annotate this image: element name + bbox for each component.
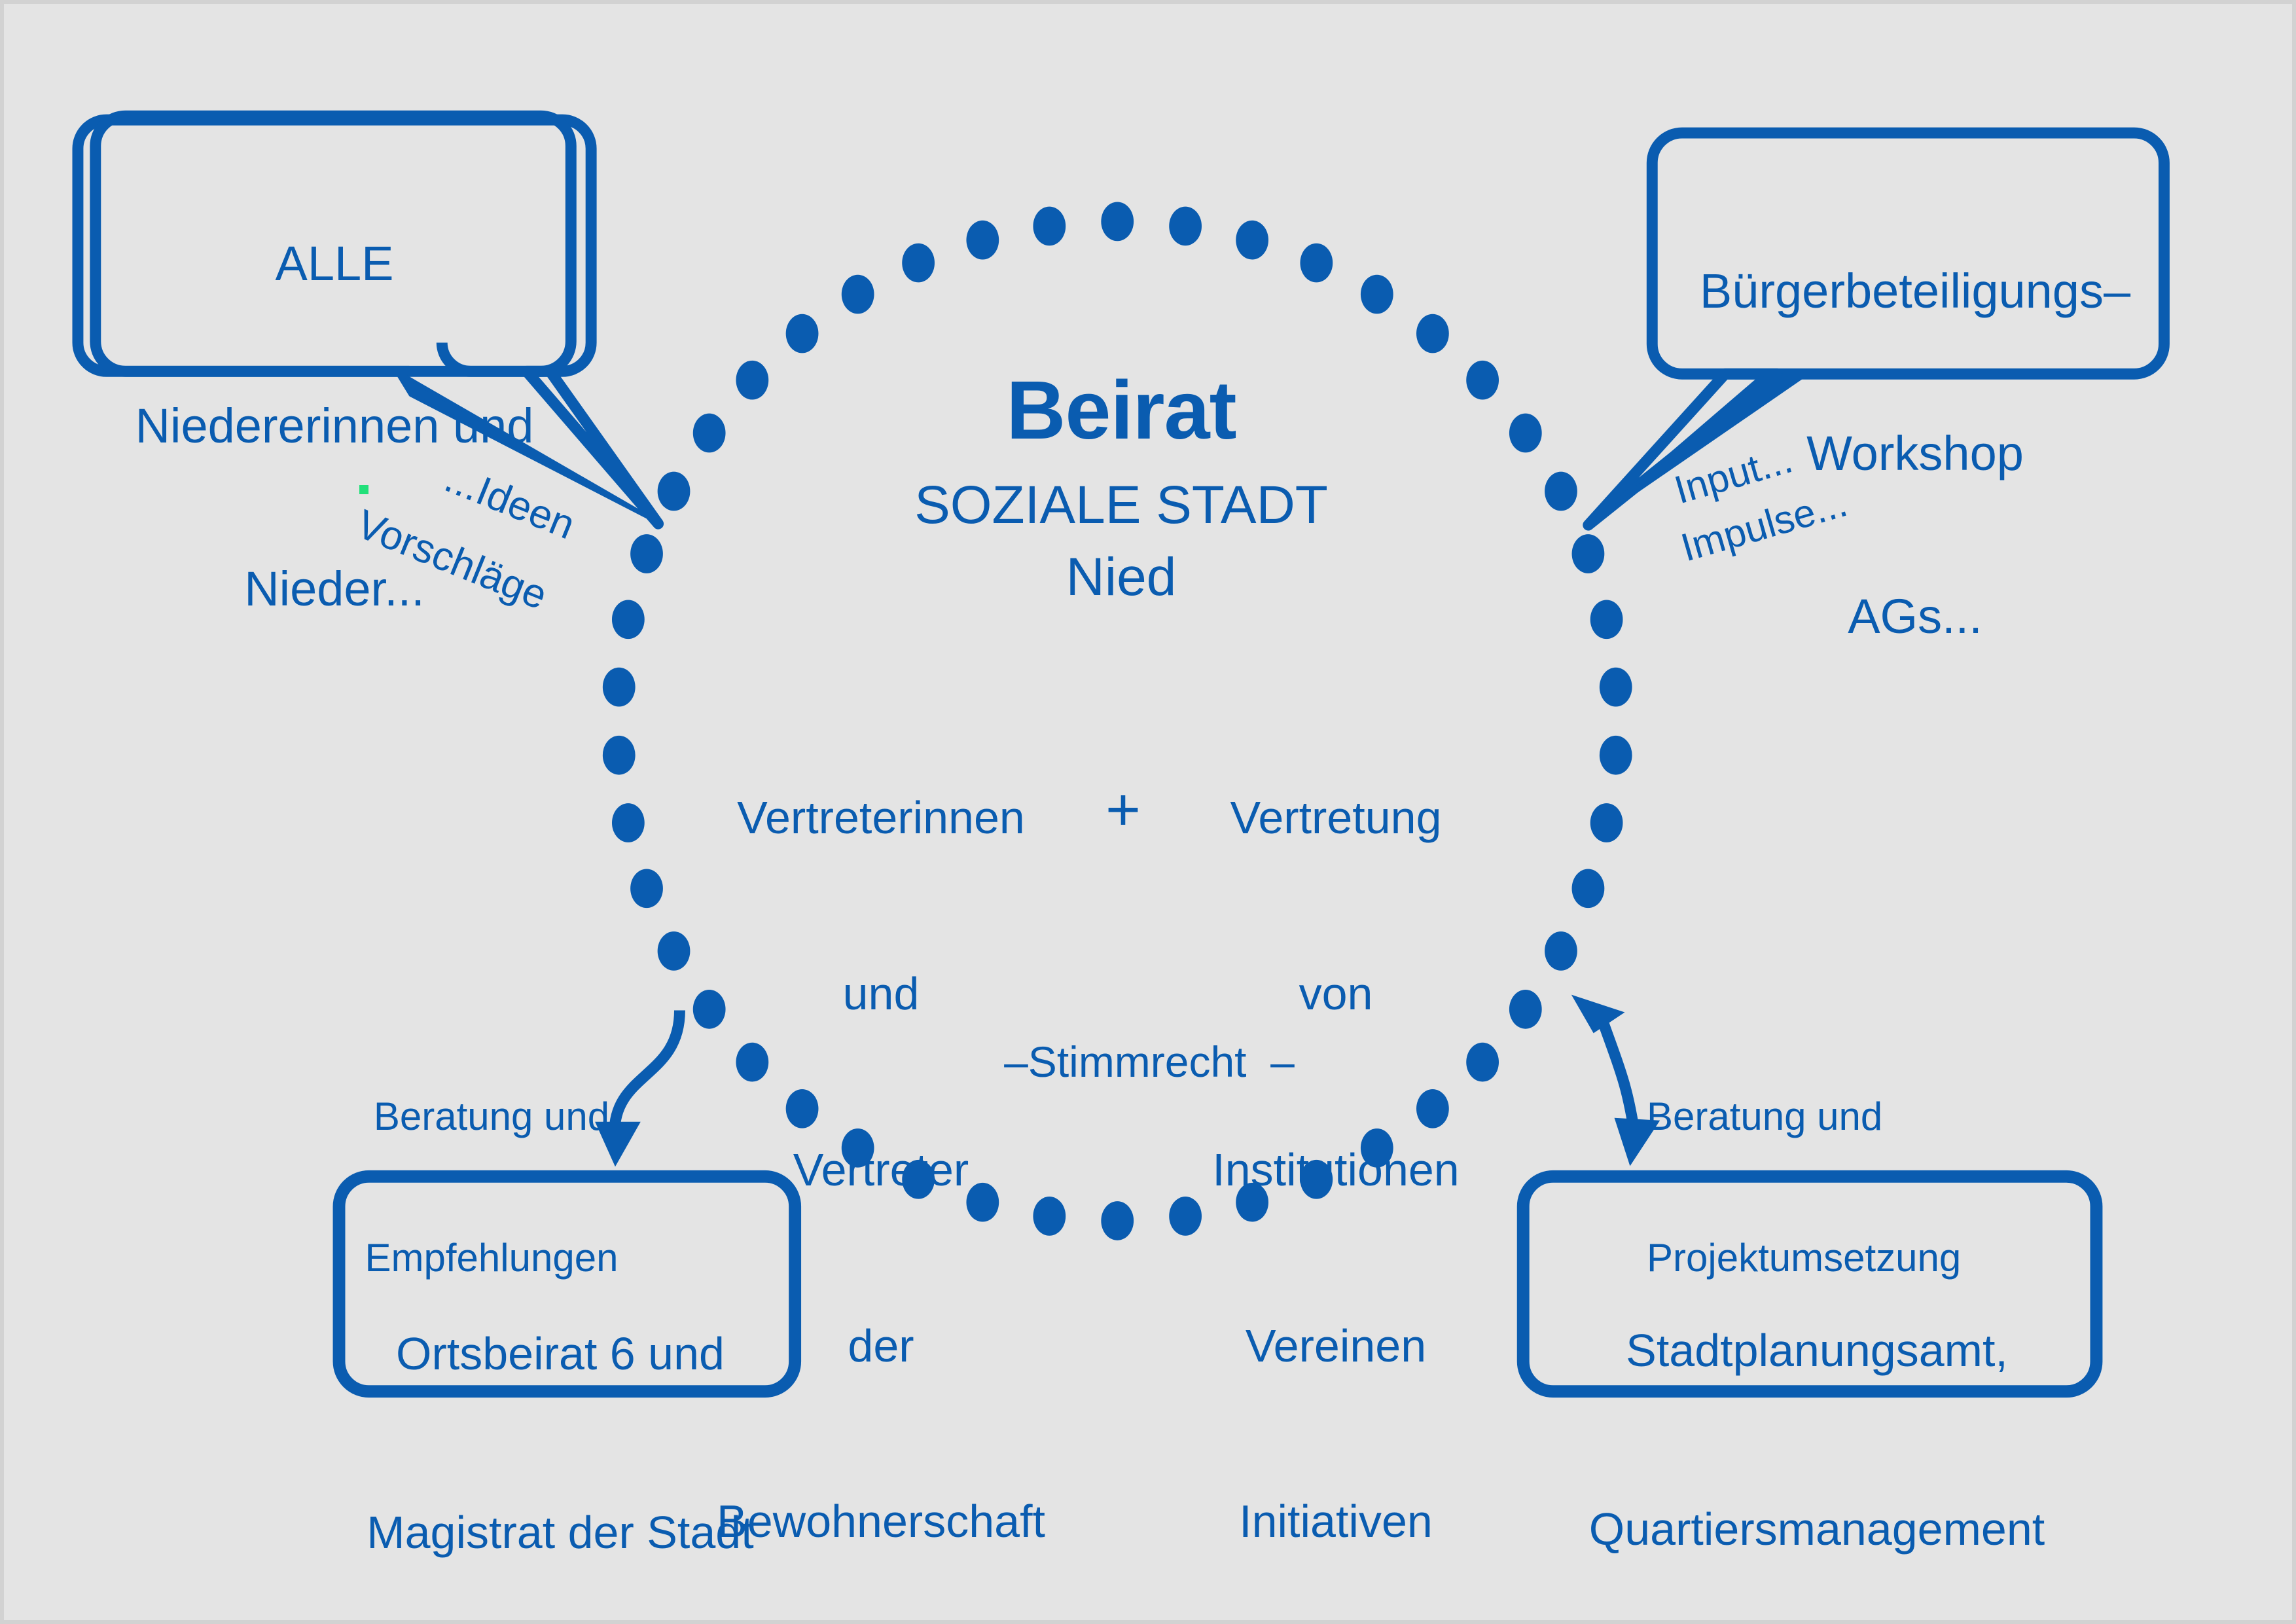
- stimmrecht-note: –Stimmrecht –: [907, 1038, 1391, 1087]
- right-column-line-2: von: [1195, 965, 1477, 1024]
- box-right-line-2: Quartiersmanagement: [1522, 1500, 2111, 1559]
- bubble-left-line-2: Niedererinnen und: [96, 399, 573, 454]
- box-left-line-1: Ortsbeirat 6 und: [331, 1324, 789, 1384]
- right-column-line-5: Initiativen: [1195, 1492, 1477, 1551]
- core-subtitle-line-1: SOZIALE STADT: [761, 475, 1481, 535]
- core-subtitle-line-2: Nied: [761, 547, 1481, 607]
- right-column-line-3: Institutionen: [1195, 1141, 1477, 1200]
- box-left-line-2: Magistrat der Stadt: [331, 1503, 789, 1562]
- green-marker-dot: [359, 485, 368, 494]
- left-column-line-2: und: [711, 965, 1051, 1024]
- box-stadtplanungsamt-text: Stadtplanungsamt, Quartiersmanagement un…: [1522, 1202, 2111, 1624]
- core-right-column: Vertretung von Institutionen Vereinen In…: [1195, 672, 1477, 1624]
- arrow-caption-right-line-1: Beratung und: [1647, 1093, 1974, 1140]
- bubble-right-line-3: AGs...: [1666, 590, 2164, 644]
- diagram-canvas: ALLE Niedererinnen und Nieder... Bürgerb…: [0, 0, 2296, 1624]
- left-column-line-1: Vertreterinnen: [711, 789, 1051, 848]
- right-column-line-4: Vereinen: [1195, 1317, 1477, 1376]
- speech-bubble-left-text: ALLE Niedererinnen und Nieder...: [96, 128, 573, 725]
- left-column-line-3: Vertreter: [711, 1141, 1051, 1200]
- box-right-line-1: Stadtplanungsamt,: [1522, 1321, 2111, 1380]
- bubble-right-line-1: Bürgerbeteiligungs–: [1666, 264, 2164, 319]
- plus-operator: +: [1087, 776, 1159, 844]
- box-ortsbeirat-text: Ortsbeirat 6 und Magistrat der Stadt Fra…: [331, 1205, 789, 1624]
- right-column-line-1: Vertretung: [1195, 789, 1477, 848]
- bubble-left-line-1: ALLE: [96, 237, 573, 291]
- arrow-caption-left-line-1: Beratung und: [351, 1093, 632, 1140]
- core-title: Beirat: [761, 364, 1481, 456]
